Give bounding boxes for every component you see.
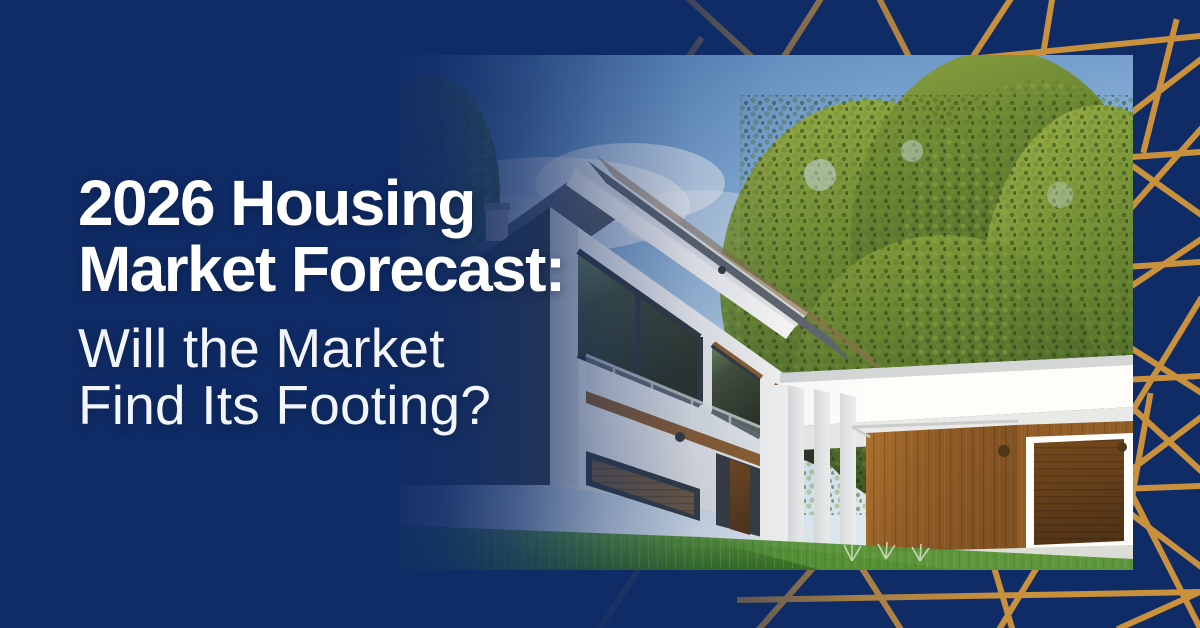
subhead-line-1: Will the Market	[78, 320, 698, 377]
page-subtitle: Will the Market Find Its Footing?	[78, 320, 698, 434]
page-title: 2026 Housing Market Forecast:	[78, 170, 698, 302]
housing-market-forecast-banner: 2026 Housing Market Forecast: Will the M…	[0, 0, 1200, 628]
headline-line-1: 2026 Housing	[78, 170, 698, 236]
title-block: 2026 Housing Market Forecast: Will the M…	[78, 170, 698, 434]
subhead-line-2: Find Its Footing?	[78, 377, 698, 434]
headline-line-2: Market Forecast:	[78, 236, 698, 302]
